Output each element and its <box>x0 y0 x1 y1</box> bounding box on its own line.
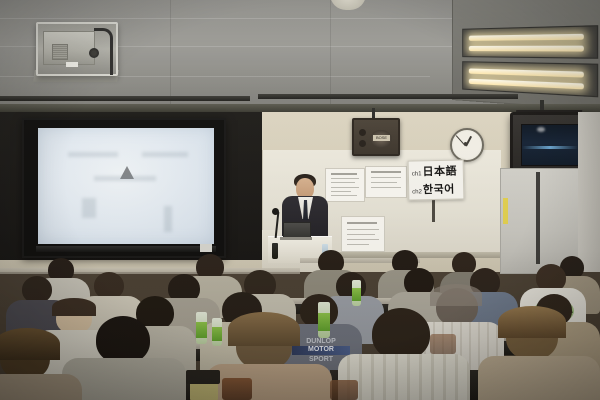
tea-bottle-label <box>212 327 222 341</box>
photo-scene: BOSE ch1 日本語 ch2 한국어 <box>0 0 600 400</box>
audience-torso <box>0 374 82 400</box>
chair-back <box>330 380 358 400</box>
lamp-cell <box>462 25 598 59</box>
slide-faint-text <box>68 152 118 157</box>
screen-blemish <box>164 206 172 232</box>
lamp-tube <box>469 68 584 77</box>
wall-column <box>578 112 600 272</box>
screen-blemish <box>82 198 96 218</box>
sign-language-label: 日本語 <box>422 163 457 180</box>
audience-head <box>96 316 150 364</box>
projector-vent <box>52 44 68 60</box>
wall-clock <box>450 128 484 162</box>
projector-label <box>66 62 78 67</box>
audience-head <box>372 308 430 360</box>
audience-head <box>22 276 52 303</box>
clock-center <box>464 142 467 145</box>
audience-hair <box>228 312 300 346</box>
sign-channel-label: ch1 <box>412 171 422 177</box>
desk-notebook <box>186 370 220 384</box>
presenter-laptop-base <box>280 237 312 240</box>
pa-speaker-brand-label: BOSE <box>373 135 390 141</box>
chair-back <box>222 378 252 400</box>
desk-paper <box>190 384 218 400</box>
slide-faint-text <box>94 176 156 181</box>
projector-body <box>43 31 95 65</box>
whiteboard-poster <box>325 168 365 202</box>
ceiling-projector <box>36 22 118 76</box>
tv-screen <box>521 124 581 166</box>
ceiling-seam <box>330 0 331 104</box>
interpretation-channel-sign: ch1 日本語 ch2 한국어 <box>408 159 465 200</box>
audience-hair <box>0 328 60 360</box>
projection-screen <box>22 118 226 258</box>
sign-row-ch1: ch1 日本語 <box>409 160 463 179</box>
sign-row-ch2: ch2 한국어 <box>409 178 463 197</box>
audience-hair <box>52 298 96 316</box>
projection-screen-surface <box>38 128 214 244</box>
audience-torso <box>478 356 600 400</box>
tee-text-motor: MOTOR <box>290 346 352 353</box>
tv-screen-glint <box>537 127 545 132</box>
whiteboard-poster <box>341 216 385 252</box>
lamp-tube <box>469 34 584 41</box>
microphone-head <box>272 208 279 215</box>
chair-back <box>430 334 456 354</box>
audience-hair <box>498 306 566 338</box>
slide-faint-text <box>142 152 188 157</box>
audience-hair <box>430 284 482 306</box>
tea-bottle-label <box>318 313 330 331</box>
ceiling-slot <box>0 96 250 101</box>
audience-seating: ATHLETA DUNLOP MOTOR SPORT <box>0 250 600 400</box>
ceiling-slot <box>258 94 518 99</box>
audience-head <box>94 272 124 299</box>
tv-scanline <box>522 146 578 149</box>
pa-speaker: BOSE <box>352 118 400 156</box>
projector-cable <box>94 28 113 75</box>
lamp-tube <box>469 46 584 52</box>
sign-channel-label: ch2 <box>412 189 422 195</box>
tea-bottle-label <box>196 322 207 338</box>
clock-hour-hand <box>465 136 472 147</box>
door-yellow-sign <box>503 198 508 224</box>
lamp-tube <box>469 79 584 90</box>
sign-language-label: 한국어 <box>423 181 455 198</box>
lamp-cell <box>462 61 598 97</box>
whiteboard-poster <box>365 166 407 198</box>
tea-bottle-label <box>352 288 361 301</box>
ceiling-seam <box>170 0 171 104</box>
pa-speaker-tweeter <box>359 129 366 136</box>
pa-speaker-tweeter <box>359 140 366 147</box>
